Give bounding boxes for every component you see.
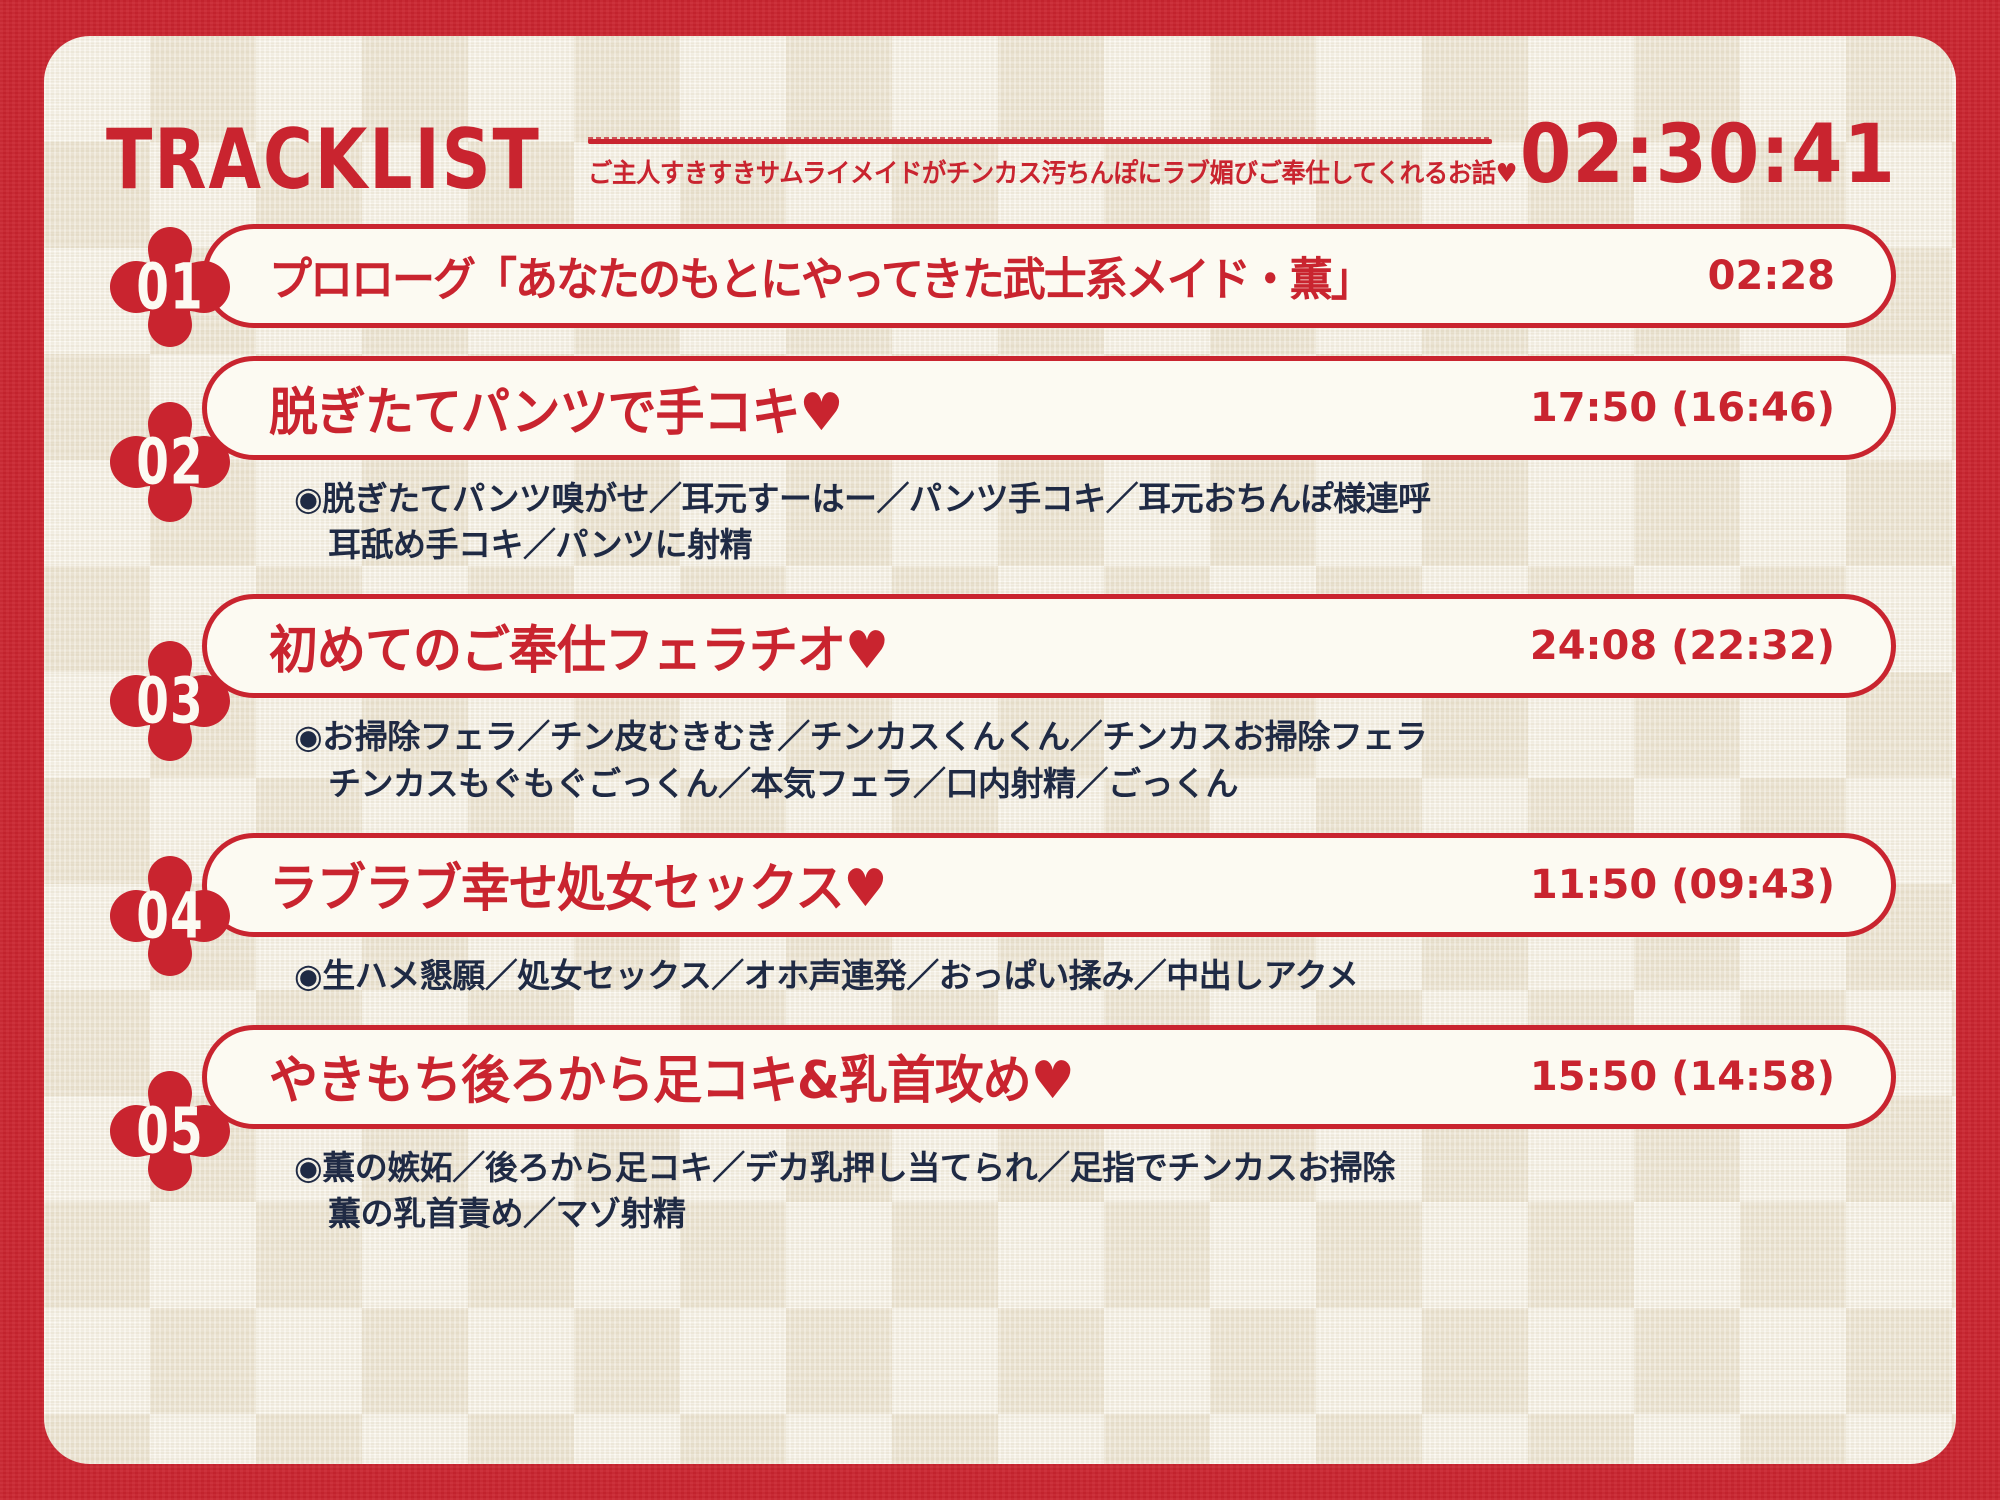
track-description-line-1: ◉脱ぎたてパンツ嗅がせ／耳元すーはー／パンツ手コキ／耳元おちんぽ様連呼 [294,479,1431,518]
track-row[interactable]: 脱ぎたてパンツで手コキ♥ 17:50 (16:46) [202,356,1896,460]
poster-header: TRACKLIST ご主人すきすきサムライメイドがチンカス汚ちんぽにラブ媚びご奉… [106,80,1896,206]
track-duration: 15:50 (14:58) [1530,1054,1835,1100]
track-row[interactable]: ラブラブ幸せ処女セックス♥ 11:50 (09:43) [202,833,1896,937]
track-title: やきもち後ろから足コキ&乳首攻め♥ [269,1039,1074,1114]
track-description: ◉脱ぎたてパンツ嗅がせ／耳元すーはー／パンツ手コキ／耳元おちんぽ様連呼 耳舐め手… [294,476,1896,568]
track-item-05: 05 やきもち後ろから足コキ&乳首攻め♥ 15:50 (14:58) ◉薫の嫉妬… [106,1025,1896,1237]
track-list: 01 プロローグ「あなたのもとにやってきた武士系メイド・薫」 02:28 02 [106,224,1896,1237]
track-title: 脱ぎたてパンツで手コキ♥ [269,370,842,445]
track-number-badge: 04 [106,852,234,980]
track-description-line-1: ◉生ハメ懇願／処女セックス／オホ声連発／おっぱい揉み／中出しアクメ [294,956,1358,995]
track-description-line-2: チンカスもぐもぐごっくん／本気フェラ／口内射精／ごっくん [328,761,1896,807]
header-subtitle: ご主人すきすきサムライメイドがチンカス汚ちんぽにラブ媚びご奉仕してくれるお話♥ [588,153,1437,190]
track-spacer [106,328,1896,350]
track-item-04: 04 ラブラブ幸せ処女セックス♥ 11:50 (09:43) ◉生ハメ懇願／処女… [106,833,1896,999]
track-description-line-2: 耳舐め手コキ／パンツに射精 [328,522,1896,568]
total-duration: 02:30:41 [1520,114,1896,206]
page-title: TRACKLIST [106,120,541,206]
subtitle-block: ご主人すきすきサムライメイドがチンカス汚ちんぽにラブ媚びご奉仕してくれるお話♥ [588,139,1492,190]
track-row[interactable]: やきもち後ろから足コキ&乳首攻め♥ 15:50 (14:58) [202,1025,1896,1129]
track-description: ◉生ハメ懇願／処女セックス／オホ声連発／おっぱい揉み／中出しアクメ [294,953,1896,999]
track-duration: 02:28 [1708,253,1835,299]
track-number-badge: 01 [106,223,234,351]
track-number-badge: 02 [106,398,234,526]
track-description: ◉お掃除フェラ／チン皮むきむき／チンカスくんくん／チンカスお掃除フェラ チンカス… [294,714,1896,806]
tracklist-poster: TRACKLIST ご主人すきすきサムライメイドがチンカス汚ちんぽにラブ媚びご奉… [0,0,2000,1500]
track-number-badge: 05 [106,1067,234,1195]
track-description-line-2: 薫の乳首責め／マゾ射精 [328,1191,1896,1237]
track-duration: 11:50 (09:43) [1530,862,1835,908]
track-row[interactable]: プロローグ「あなたのもとにやってきた武士系メイド・薫」 02:28 [202,224,1896,328]
track-row[interactable]: 初めてのご奉仕フェラチオ♥ 24:08 (22:32) [202,594,1896,698]
track-description: ◉薫の嫉妬／後ろから足コキ／デカ乳押し当てられ／足指でチンカスお掃除 薫の乳首責… [294,1145,1896,1237]
track-duration: 24:08 (22:32) [1530,623,1835,669]
track-title: 初めてのご奉仕フェラチオ♥ [269,609,888,684]
track-description-line-1: ◉お掃除フェラ／チン皮むきむき／チンカスくんくん／チンカスお掃除フェラ [294,717,1427,756]
track-title: プロローグ「あなたのもとにやってきた武士系メイド・薫」 [269,243,1372,309]
track-item-03: 03 初めてのご奉仕フェラチオ♥ 24:08 (22:32) ◉お掃除フェラ／チ… [106,594,1896,806]
poster-content: TRACKLIST ご主人すきすきサムライメイドがチンカス汚ちんぽにラブ媚びご奉… [44,80,1956,1237]
track-duration: 17:50 (16:46) [1530,385,1835,431]
track-description-line-1: ◉薫の嫉妬／後ろから足コキ／デカ乳押し当てられ／足指でチンカスお掃除 [294,1148,1395,1187]
header-divider-rule [588,139,1492,144]
track-item-01: 01 プロローグ「あなたのもとにやってきた武士系メイド・薫」 02:28 [106,224,1896,350]
paper-panel: TRACKLIST ご主人すきすきサムライメイドがチンカス汚ちんぽにラブ媚びご奉… [44,36,1956,1464]
track-item-02: 02 脱ぎたてパンツで手コキ♥ 17:50 (16:46) ◉脱ぎたてパンツ嗅が… [106,356,1896,568]
track-number-badge: 03 [106,637,234,765]
track-title: ラブラブ幸せ処女セックス♥ [269,847,886,922]
